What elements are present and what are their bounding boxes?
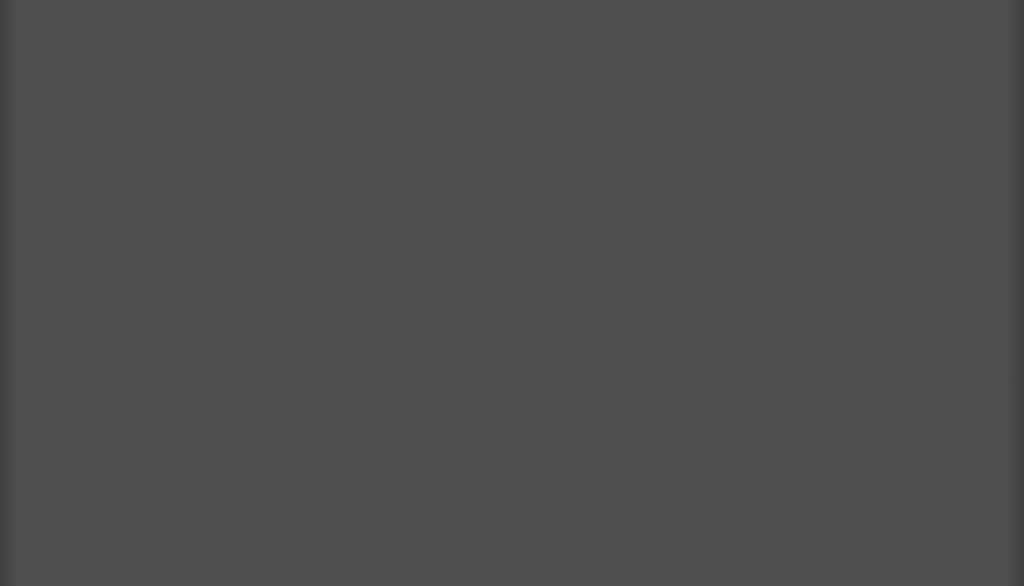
page-title: Forest Restoration [14, 34, 1014, 74]
caption-line1-part-a: DIFFERENCES OF FOREST COVER BY YEARS IN … [143, 444, 807, 463]
gallery-photo-r1c2[interactable] [266, 106, 478, 226]
caption-line1-part-c: ), [867, 444, 881, 463]
column-header-2022-2023: 2022 – 2023 [562, 79, 663, 97]
gallery-photo-r2c2[interactable] [266, 232, 478, 388]
slide-caption: DIFFERENCES OF FOREST COVER BY YEARS IN … [60, 441, 964, 491]
slide-canvas: DIFFERENCES OF FOREST COVER BY YEARS IN … [0, 0, 1024, 586]
caption-misspelled-token: SPnCA [807, 444, 868, 463]
gallery-photo-r1c1[interactable] [42, 106, 250, 226]
caption-line2: KINABATANGAN [439, 469, 585, 488]
column-header-2024-present: 2024 - PRESENT [818, 75, 953, 93]
footer-accent-block [736, 544, 1004, 580]
title-word-restoration: Restoration [467, 34, 700, 74]
column-header-2014-2018: 2014 – 2018 [320, 90, 421, 108]
gallery-photo-r2c4[interactable] [750, 226, 989, 388]
footer-website-url[interactable]: www.sawitkinabalu.com.my [18, 540, 730, 578]
column-header-2000-2004: 2000 – 2004 [97, 90, 198, 108]
title-word-forest: Forest [328, 34, 467, 74]
gallery-photo-r1c4[interactable] [750, 102, 985, 226]
gallery-photo-r2c1[interactable] [36, 232, 250, 388]
gallery-photo-r1c3[interactable] [495, 106, 734, 226]
gallery-photo-r2c3[interactable] [495, 226, 734, 388]
